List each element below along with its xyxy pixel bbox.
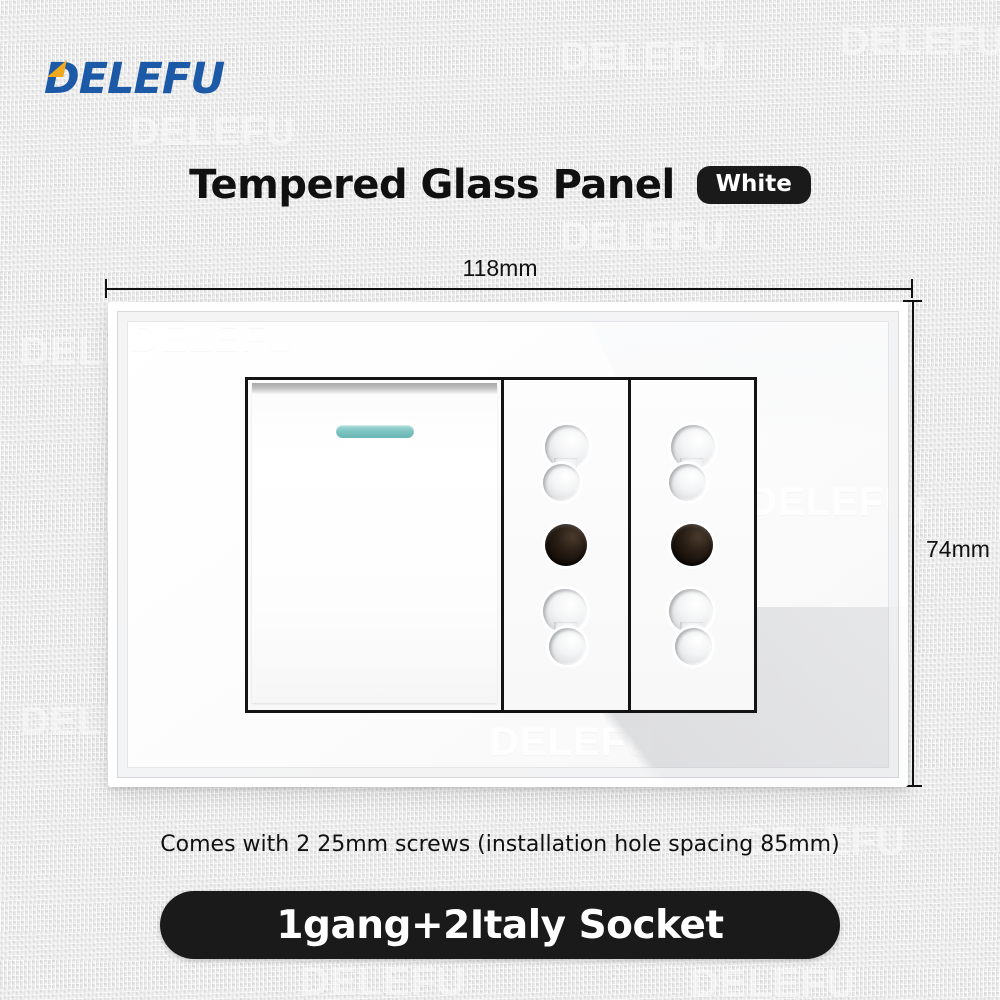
height-dimension-line (912, 300, 914, 787)
neutral-pin-hole (543, 589, 589, 665)
page-title: Tempered Glass Panel (189, 162, 675, 208)
rocker-switch-button[interactable] (252, 383, 497, 703)
brand-logo: DELEFU (44, 58, 224, 101)
module-italy-socket-right[interactable] (628, 380, 755, 710)
panel-watermark: DELEFU (130, 316, 296, 361)
background-watermark: DELEFU (840, 20, 1000, 65)
width-dimension-label: 118mm (0, 255, 1000, 282)
logo-text: DELEFU (44, 58, 224, 101)
color-badge: White (697, 166, 811, 204)
product-image: DELEFUDELEFUDELEFUDELEFUDELEFUDELEFUDELE… (0, 0, 1000, 1000)
tempered-glass-panel: DELEFUDELEFUDELEFU (108, 302, 908, 787)
socket-hole-group (669, 425, 715, 665)
pin-hole-lobe-bottom (543, 464, 580, 501)
background-watermark: DELEFU (300, 960, 466, 1000)
module-italy-socket-left[interactable] (501, 380, 628, 710)
rocker-top-shadow (252, 383, 497, 394)
switch-socket-mechanism (245, 377, 757, 713)
background-watermark: DELEFU (690, 962, 856, 1000)
background-watermark: DELEFU (130, 110, 296, 155)
height-dimension-label: 74mm (926, 536, 990, 563)
earth-pin-hole (671, 524, 713, 566)
panel-watermark: DELEFU (490, 720, 656, 765)
module-rocker-switch[interactable] (248, 380, 501, 710)
background-watermark: DELEFU (560, 215, 726, 260)
pin-hole-lobe-bottom (549, 628, 586, 665)
screw-caption: Comes with 2 25mm screws (installation h… (0, 832, 1000, 857)
pin-hole-lobe-bottom (675, 628, 712, 665)
line-pin-hole (669, 425, 715, 501)
pin-hole-lobe-bottom (669, 464, 706, 501)
line-pin-hole (543, 425, 589, 501)
header-row: Tempered Glass Panel White (0, 162, 1000, 208)
width-dimension-line (105, 288, 913, 290)
socket-hole-group (543, 425, 589, 665)
earth-pin-hole (545, 524, 587, 566)
product-name-banner: 1gang+2Italy Socket (160, 891, 840, 959)
switch-indicator-light (336, 425, 414, 438)
neutral-pin-hole (669, 589, 715, 665)
background-watermark: DELEFU (560, 35, 726, 80)
product-name-text: 1gang+2Italy Socket (276, 903, 723, 948)
panel-watermark: DELEFU (748, 480, 908, 525)
